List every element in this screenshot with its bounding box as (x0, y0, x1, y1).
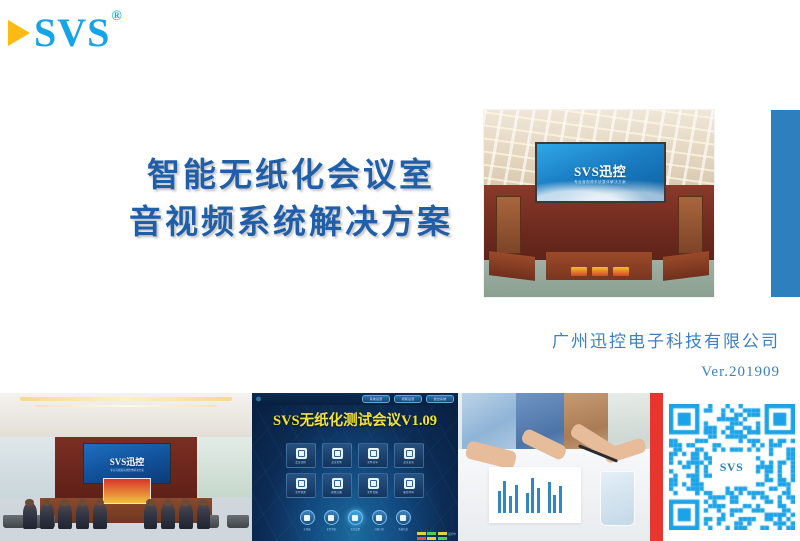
software-module-0[interactable]: 会议议程 (286, 443, 316, 468)
status-indicator (438, 537, 447, 541)
registered-trademark-icon: ® (111, 9, 122, 24)
strip1-head (146, 499, 155, 507)
clipboard-icon (296, 448, 307, 459)
software-nav-label: 分组讨论 (374, 527, 384, 531)
qr-code[interactable]: SVS (669, 404, 795, 530)
company-block: 广州迅控电子科技有限公司 Ver.201909 (552, 330, 780, 381)
transfer-icon (368, 478, 379, 489)
strip3-chart-bar (503, 481, 506, 514)
software-topbar-button-0[interactable]: 系统设置 (362, 395, 390, 403)
software-module-5[interactable]: 视频点播 (322, 473, 352, 498)
strip1-ceiling-light-2 (35, 405, 216, 408)
group-icon (372, 510, 387, 525)
blue-accent-bar (771, 110, 800, 297)
strip1-person (23, 503, 37, 529)
software-status-label: 运行中 (448, 532, 456, 536)
file-share-icon (368, 448, 379, 459)
qr-center-label: SVS (720, 460, 744, 475)
software-topbar-button-2[interactable]: 退出系统 (426, 395, 454, 403)
page-title: 智能无纸化会议室 音视频系统解决方案 (96, 152, 486, 246)
status-indicator (417, 537, 426, 541)
strip1-person (40, 503, 54, 529)
software-module-1[interactable]: 会议签到 (322, 443, 352, 468)
strip1-head (199, 499, 208, 507)
software-module-2[interactable]: 文件共享 (358, 443, 388, 468)
software-nav-item-1[interactable]: 文件浏览 (324, 510, 339, 531)
video-icon (332, 478, 343, 489)
folder-icon (296, 478, 307, 489)
filmstrip-paperless-software-screenshot: 系统设置 视频设置 退出系统 SVS无纸化测试会议V1.09 会议议程 会议签到… (252, 393, 458, 541)
strip1-head (78, 499, 87, 507)
software-module-grid: 会议议程 会议签到 文件共享 会议表决 文件管理 (286, 443, 424, 498)
filmstrip-photo-team-charts (458, 393, 650, 541)
status-indicator (438, 532, 447, 536)
software-status-row: 运行中 (417, 532, 456, 536)
software-status-panel: 运行中 (417, 532, 456, 541)
info-icon (396, 510, 411, 525)
software-module-label: 文件传输 (368, 490, 379, 494)
strip1-person (76, 503, 90, 529)
screen-brand-text: SVS迅控 (574, 161, 626, 180)
strip1-screen-brand: SVS迅控 (110, 455, 145, 468)
logo-text: SVS (34, 10, 110, 55)
red-divider-bar (650, 393, 663, 541)
qr-code-panel: SVS (663, 393, 800, 541)
software-module-label: 服务呼叫 (404, 490, 415, 494)
software-module-6[interactable]: 文件传输 (358, 473, 388, 498)
software-module-label: 文件管理 (296, 490, 307, 494)
table-flower-1 (571, 267, 587, 276)
service-call-icon (404, 478, 415, 489)
strip3-chart-bar (498, 491, 501, 513)
software-topbar: 系统设置 视频设置 退出系统 (252, 393, 458, 405)
software-module-label: 文件共享 (368, 460, 379, 464)
software-status-row (417, 537, 456, 541)
strip1-delegates (0, 485, 252, 529)
strip3-chart-bar (515, 485, 518, 513)
company-name: 广州迅控电子科技有限公司 (552, 330, 780, 356)
table-flower-3 (613, 267, 629, 276)
software-nav-item-0[interactable]: 主界面 (300, 510, 315, 531)
strip3-chart-bar (531, 478, 534, 513)
screen-subtitle-text: 专业音视频系统整体解决方案 (574, 180, 626, 185)
title-line-2: 音视频系统解决方案 (96, 199, 486, 246)
software-title: SVS无纸化测试会议V1.09 (252, 409, 458, 430)
software-module-label: 会议表决 (404, 460, 415, 464)
software-module-label: 会议议程 (296, 460, 307, 464)
hero-conference-room-photo: SVS迅控 专业音视频系统整体解决方案 (484, 110, 714, 297)
strip1-head (60, 499, 69, 507)
strip1-person (144, 503, 158, 529)
svs-logo: SVS® (8, 13, 122, 53)
software-nav-label: 文件浏览 (326, 527, 336, 531)
door-left (496, 196, 521, 254)
software-module-label: 视频点播 (332, 490, 343, 494)
strip1-chair (227, 515, 250, 528)
software-module-4[interactable]: 文件管理 (286, 473, 316, 498)
strip1-head (181, 499, 190, 507)
strip1-person (161, 503, 175, 529)
presentation-slide: SVS® 智能无纸化会议室 音视频系统解决方案 SVS迅控 专业音视频系统整体解… (0, 0, 800, 541)
bottom-filmstrip: SVS迅控 专业音视频系统整体解决方案 (0, 393, 800, 541)
strip1-chair (3, 515, 26, 528)
logo-wordmark: SVS® (34, 13, 122, 53)
version-label: Ver.201909 (552, 364, 780, 381)
software-logo-dot-icon (256, 396, 261, 401)
title-line-1: 智能无纸化会议室 (96, 152, 486, 199)
software-module-label: 会议签到 (332, 460, 343, 464)
status-indicator (417, 532, 426, 536)
strip3-water-glass (600, 471, 635, 526)
software-topbar-button-1[interactable]: 视频设置 (394, 395, 422, 403)
status-indicator (427, 537, 436, 541)
strip1-ceiling-light-1 (20, 397, 232, 401)
software-nav-label: 会议设置 (350, 527, 360, 531)
software-nav-item-2[interactable]: 会议设置 (348, 510, 363, 531)
led-screen: SVS迅控 专业音视频系统整体解决方案 (535, 142, 666, 204)
strip3-chart-bar (559, 486, 562, 513)
strip3-chart-bar (553, 495, 556, 514)
door-right (678, 196, 703, 254)
strip3-chart-bar (548, 482, 551, 513)
triangle-play-icon (8, 20, 30, 46)
signin-icon (332, 448, 343, 459)
status-indicator (427, 532, 436, 536)
settings-icon (348, 510, 363, 525)
strip3-chart-document (489, 467, 581, 523)
software-nav-label: 系统信息 (398, 527, 408, 531)
strip3-chart-bar (537, 488, 540, 513)
strip1-person (197, 503, 211, 529)
strip1-head (25, 499, 34, 507)
home-icon (300, 510, 315, 525)
vote-icon (404, 448, 415, 459)
strip3-chart-bar (509, 496, 512, 513)
table-flower-2 (592, 267, 608, 276)
strip1-person (93, 503, 107, 529)
software-nav-item-3[interactable]: 分组讨论 (372, 510, 387, 531)
software-bottom-nav: 主界面 文件浏览 会议设置 分组讨论 系统信息 (252, 510, 458, 531)
doc-icon (324, 510, 339, 525)
software-nav-item-4[interactable]: 系统信息 (396, 510, 411, 531)
strip1-screen-subtitle: 专业音视频系统整体解决方案 (110, 468, 144, 472)
software-nav-label: 主界面 (303, 527, 310, 531)
filmstrip-photo-conference-delegates: SVS迅控 专业音视频系统整体解决方案 (0, 393, 252, 541)
qr-center-logo: SVS (712, 456, 752, 478)
software-module-3[interactable]: 会议表决 (394, 443, 424, 468)
strip1-person (58, 503, 72, 529)
software-module-7[interactable]: 服务呼叫 (394, 473, 424, 498)
strip1-person (179, 503, 193, 529)
strip3-chart-bar (526, 493, 529, 513)
